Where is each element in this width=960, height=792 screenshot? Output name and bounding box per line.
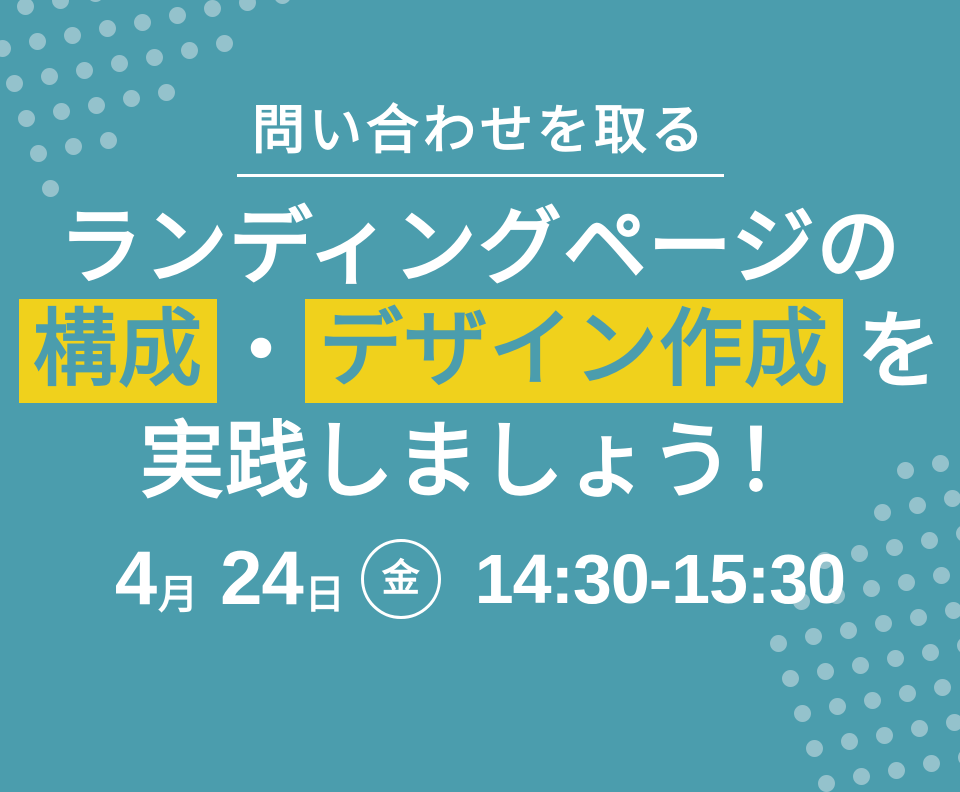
event-weekday-label: 金 (382, 560, 420, 598)
event-month-unit: 月 (158, 575, 198, 619)
headline-block: ランディングページの 構成 ・ デザイン作成 を 実践しましょう！ (19, 193, 941, 515)
event-datetime: 4 月 24 日 金 14:30-15:30 (115, 539, 845, 619)
event-day-number: 24 (220, 541, 303, 617)
decorative-dot (888, 762, 905, 779)
kicker-text: 問い合わせを取る (252, 104, 708, 157)
decorative-dot (818, 775, 835, 792)
event-month-number: 4 (115, 541, 156, 617)
headline-line-1-text: ランディングページの (59, 205, 901, 289)
decorative-dot (806, 740, 823, 757)
headline-line-2-tail: を (857, 309, 941, 393)
headline-line-3-text: 実践しましょう！ (140, 419, 820, 503)
event-day-unit: 日 (305, 575, 345, 619)
event-weekday-badge: 金 (361, 539, 441, 619)
decorative-dot (923, 755, 940, 772)
decorative-dot (853, 768, 870, 785)
slide-content: 問い合わせを取る ランディングページの 構成 ・ デザイン作成 を 実践しましょ… (0, 0, 960, 740)
headline-highlight-kousei: 構成 (19, 299, 217, 403)
headline-line-3: 実践しましょう！ (140, 407, 820, 515)
kicker-divider (237, 174, 724, 177)
headline-separator-dot: ・ (217, 309, 305, 393)
event-time-range: 14:30-15:30 (475, 544, 845, 614)
headline-highlight-design: デザイン作成 (305, 299, 843, 403)
headline-line-2: 構成 ・ デザイン作成 を (19, 297, 941, 405)
headline-line-1: ランディングページの (59, 193, 901, 301)
kicker-block: 問い合わせを取る (237, 104, 724, 177)
